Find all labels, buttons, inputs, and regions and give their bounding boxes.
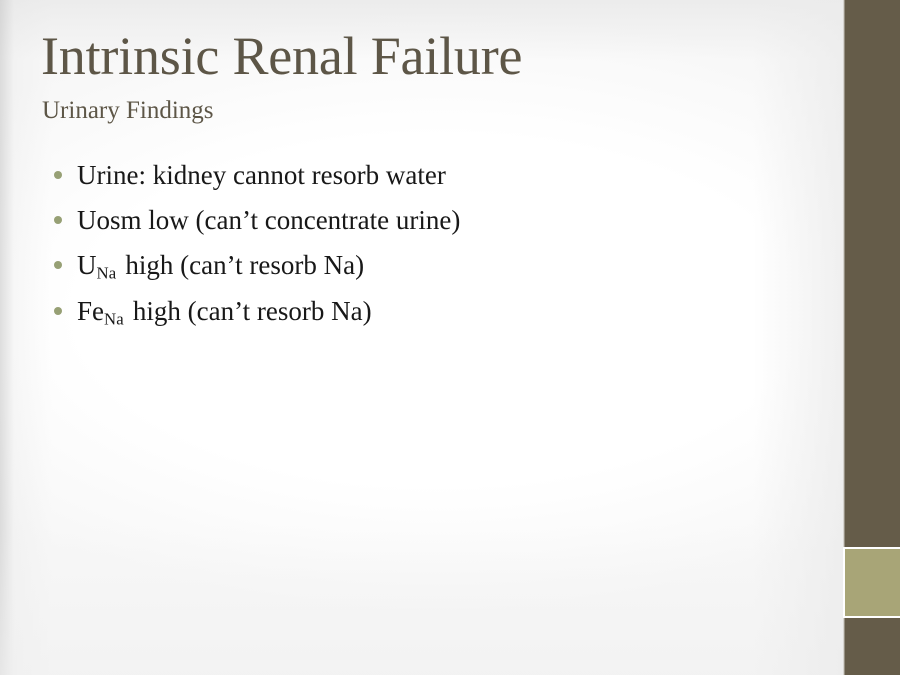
list-item: Urine: kidney cannot resorb water [42,158,802,192]
sidebar-band-bottom [843,618,900,675]
bullet-text-subscript: Na [104,310,124,329]
bullet-text-rest: high (can’t resorb Na) [133,296,372,326]
bullet-marker-icon [54,307,62,315]
sidebar-edge-highlight [843,0,845,675]
list-item: FeNahigh (can’t resorb Na) [42,294,802,329]
sidebar-band-accent [845,549,900,616]
bullet-text-subscript: Na [97,263,117,282]
bullet-list: Urine: kidney cannot resorb water Uosm l… [42,158,802,341]
bullet-text: UNahigh (can’t resorb Na) [77,250,364,280]
slide: Intrinsic Renal Failure Urinary Findings… [0,0,900,675]
slide-title: Intrinsic Renal Failure [41,28,522,85]
sidebar-band-top [843,0,900,547]
slide-subtitle: Urinary Findings [42,97,214,125]
bullet-text: Uosm low (can’t concentrate urine) [77,205,460,235]
list-item: UNahigh (can’t resorb Na) [42,248,802,283]
decorative-sidebar [843,0,900,675]
bullet-marker-icon [54,261,62,269]
list-item: Uosm low (can’t concentrate urine) [42,203,802,237]
slide-content: Intrinsic Renal Failure Urinary Findings… [0,0,843,675]
bullet-text: Urine: kidney cannot resorb water [77,160,446,190]
bullet-text-rest: high (can’t resorb Na) [125,250,364,280]
bullet-text-base: Fe [77,296,104,326]
bullet-text: FeNahigh (can’t resorb Na) [77,296,372,326]
bullet-text-base: U [77,250,97,280]
bullet-marker-icon [54,216,62,224]
bullet-marker-icon [54,171,62,179]
